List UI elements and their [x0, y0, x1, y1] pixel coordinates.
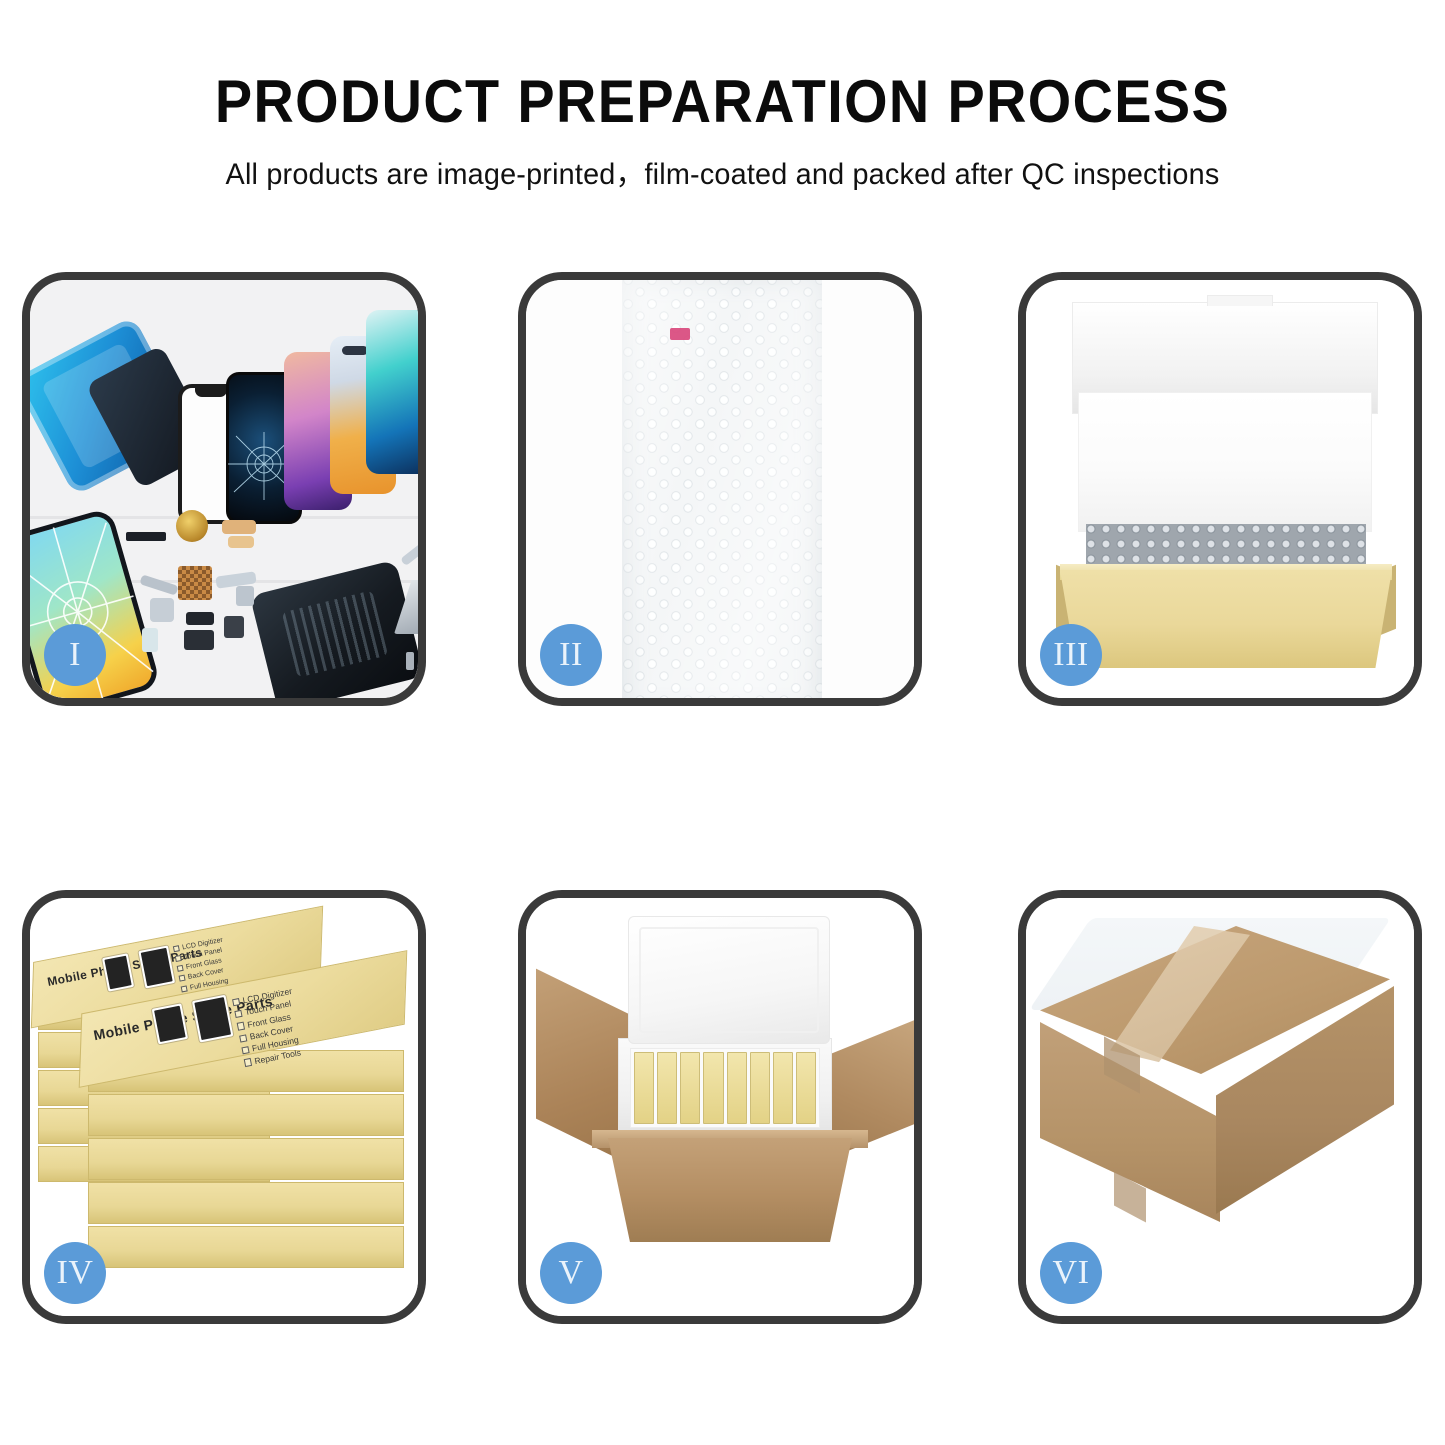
process-step-panel-3: III [1018, 272, 1422, 706]
inner-box [773, 1052, 793, 1124]
step-badge-5: V [540, 1242, 602, 1304]
inner-box [796, 1052, 816, 1124]
process-step-grid: I II [22, 272, 1426, 1312]
part-sim-tray [142, 628, 158, 652]
box-front-panel [1060, 570, 1392, 668]
step-badge-4: IV [44, 1242, 106, 1304]
page-header: PRODUCT PREPARATION PROCESS All products… [0, 70, 1445, 193]
step-badge-6: VI [1040, 1242, 1102, 1304]
process-step-panel-5: V [518, 890, 922, 1324]
part-ic-chip [178, 566, 212, 600]
phone-thumbnail-icon [138, 944, 177, 989]
stacked-box-front-2 [88, 1094, 404, 1136]
foam-cooler-lid [628, 916, 830, 1044]
phone-thumbnail-icon [101, 952, 135, 993]
carton-body [608, 1138, 852, 1242]
stacked-box-front-3 [88, 1138, 404, 1180]
process-step-panel-2: II [518, 272, 922, 706]
inner-box [657, 1052, 677, 1124]
part-flex-connector-1 [222, 520, 256, 534]
process-step-panel-1: I [22, 272, 426, 706]
inner-box [703, 1052, 723, 1124]
page-subtitle: All products are image-printed，film-coat… [29, 149, 1416, 193]
part-vibration-motor [176, 510, 208, 542]
inner-box [750, 1052, 770, 1124]
product-preparation-process-page: PRODUCT PREPARATION PROCESS All products… [0, 0, 1445, 1445]
part-ribbon-cable-2 [150, 598, 174, 622]
page-title: PRODUCT PREPARATION PROCESS [51, 70, 1395, 133]
bubble-wrap-bag [622, 280, 822, 698]
pink-qc-sticker [670, 328, 690, 340]
phone-display-teal [366, 310, 418, 474]
process-step-panel-4: Mobile Phone Spare Parts LCD Digitizer T… [22, 890, 426, 1324]
stacked-box-front-4 [88, 1182, 404, 1224]
step-badge-3: III [1040, 624, 1102, 686]
part-earpiece [186, 612, 214, 625]
step-badge-1: I [44, 624, 106, 686]
part-screw-1 [406, 652, 414, 670]
part-speaker-bar [126, 532, 166, 541]
part-loudspeaker [184, 630, 214, 650]
process-step-panel-6: VI [1018, 890, 1422, 1324]
stacked-box-front-5 [88, 1226, 404, 1268]
part-flex-connector-2 [228, 536, 254, 548]
part-ribbon-cable-4 [236, 586, 254, 606]
inner-box [680, 1052, 700, 1124]
part-camera-module [224, 616, 244, 638]
phone-thumbnail-icon [191, 993, 235, 1043]
inner-box [634, 1052, 654, 1124]
phone-thumbnail-icon [151, 1002, 190, 1045]
inner-box [727, 1052, 747, 1124]
step-badge-2: II [540, 624, 602, 686]
white-foam-sheet [1078, 392, 1372, 532]
inner-yellow-boxes [634, 1052, 816, 1124]
